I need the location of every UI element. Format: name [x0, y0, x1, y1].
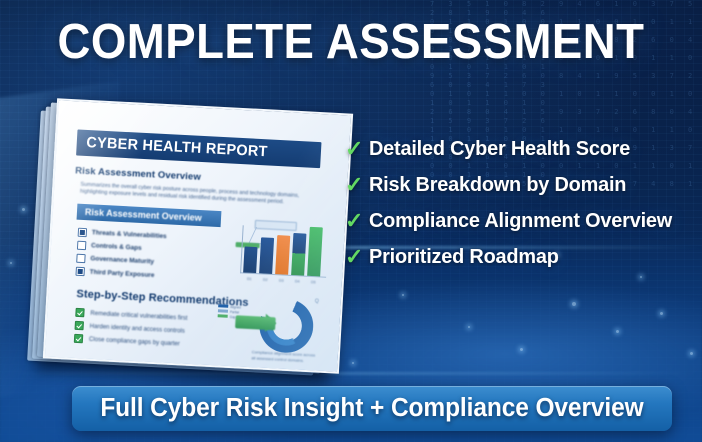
- bar-chart-bar: D1: [243, 246, 257, 273]
- page-title: COMPLETE ASSESSMENT: [25, 14, 678, 70]
- report-checkbox-label: Threats & Vulnerabilities: [92, 229, 167, 240]
- check-square-icon: [74, 334, 83, 343]
- bar-chart-bars: D1 D2 D3 D4 D5: [243, 222, 329, 276]
- checklist-item-label: Prioritized Roadmap: [369, 245, 559, 269]
- bar-chart-tick-label: D5: [304, 280, 323, 285]
- report-checkbox-list: Threats & Vulnerabilities Controls & Gap…: [75, 226, 238, 286]
- legend-swatch: [218, 315, 228, 318]
- checkmark-icon: ✓: [345, 174, 369, 196]
- checkmark-icon: ✓: [345, 138, 369, 160]
- legend-label: Gap: [230, 314, 236, 318]
- report-checkbox-label: Controls & Gaps: [91, 242, 142, 252]
- cta-banner[interactable]: Full Cyber Risk Insight + Compliance Ove…: [72, 386, 672, 431]
- promotional-banner: 7 3 5 1 0 8 2 9 4 6 1 0 3 7 5 2 8 1 9 0 …: [0, 0, 702, 442]
- report-checkbox-label: Governance Maturity: [90, 255, 154, 265]
- checklist-item-label: Detailed Cyber Health Score: [369, 137, 630, 161]
- donut-chart-badge: Q: [315, 298, 319, 304]
- feature-checklist: ✓ Detailed Cyber Health Score ✓ Risk Bre…: [345, 132, 695, 276]
- bar-chart-bar: D3: [275, 235, 290, 275]
- checkbox-icon: [78, 228, 87, 237]
- legend-swatch: [218, 305, 228, 308]
- bar-chart: D1 D2 D3 D4 D5: [232, 218, 332, 287]
- checkmark-icon: ✓: [345, 246, 369, 268]
- checkbox-icon: [75, 267, 84, 276]
- checklist-item-compliance-alignment: ✓ Compliance Alignment Overview: [345, 204, 695, 237]
- legend-swatch: [218, 310, 228, 313]
- bar-chart-bar: D5: [307, 227, 323, 277]
- checklist-item-cyber-health-score: ✓ Detailed Cyber Health Score: [345, 132, 695, 165]
- donut-chart: Q Aligned Partial Gap: [258, 297, 315, 354]
- report-title-bar: CYBER HEALTH REPORT: [76, 129, 321, 168]
- checklist-item-prioritized-roadmap: ✓ Prioritized Roadmap: [345, 240, 695, 273]
- checklist-item-label: Compliance Alignment Overview: [369, 209, 672, 233]
- check-square-icon: [75, 321, 84, 330]
- report-checkbox-label: Third Party Exposure: [90, 268, 155, 278]
- report-subsection-banner-label: Risk Assessment Overview: [77, 204, 222, 227]
- donut-chart-caption: Compliance alignment score across all as…: [251, 349, 318, 364]
- bar-chart-bar: D4: [291, 233, 306, 276]
- checkmark-icon: ✓: [345, 210, 369, 232]
- cta-banner-label: Full Cyber Risk Insight + Compliance Ove…: [100, 394, 643, 423]
- checklist-item-label: Risk Breakdown by Domain: [369, 173, 626, 197]
- check-square-icon: [75, 308, 84, 317]
- checkbox-icon: [77, 241, 86, 250]
- checklist-item-risk-breakdown: ✓ Risk Breakdown by Domain: [345, 168, 695, 201]
- report-subsection-banner: Risk Assessment Overview: [77, 204, 222, 227]
- donut-chart-legend: Aligned Partial Gap: [218, 303, 253, 320]
- legend-label: Partial: [230, 309, 239, 313]
- report-document-mockup: CYBER HEALTH REPORT Risk Assessment Over…: [34, 104, 334, 379]
- report-recommendation-label: Close compliance gaps by quarter: [89, 336, 180, 347]
- checkbox-icon: [76, 254, 85, 263]
- legend-label: Aligned: [230, 304, 241, 309]
- report-section-heading-risk-overview: Risk Assessment Overview: [75, 165, 201, 183]
- bar-chart-bar: D2: [259, 237, 274, 274]
- report-page: CYBER HEALTH REPORT Risk Assessment Over…: [43, 98, 353, 373]
- report-title: CYBER HEALTH REPORT: [76, 129, 312, 167]
